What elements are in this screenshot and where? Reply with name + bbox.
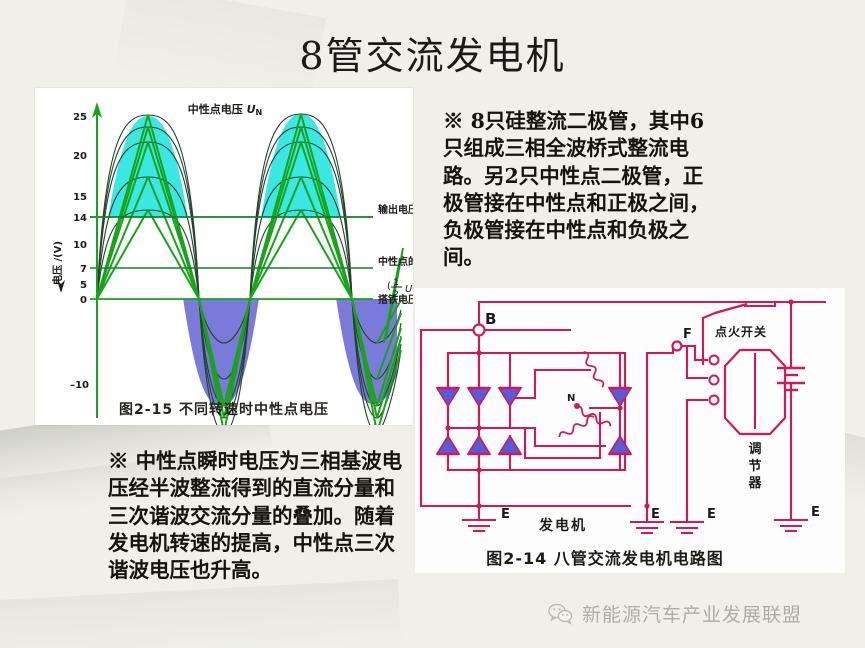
annotation-ground-voltage: 搭铁电压 [378,293,413,306]
svg-text:20: 20 [73,151,87,162]
note-rectifier-diodes: ※ 8只硅整流二极管，其中6只组成三相全波桥式整流电路。另2只中性点二极管，正极… [443,108,720,272]
circuit-diagram-panel: B F N E E E E 发电机 调 节 器 点火开关 图2-14 八管交流发… [415,288,845,573]
circuit-label-regulator-line2: 节 [748,458,761,474]
circuit-label-ground-2: E [651,507,660,522]
footer-watermark: 新能源汽车产业发展联盟 [548,600,802,627]
y-axis-label: 电压 /(V) [51,241,64,285]
svg-text:U: U [405,284,413,295]
circuit-label-regulator-line3: 器 [747,476,762,491]
circuit-label-terminal-b: B [485,310,496,328]
terminal-node-f [673,342,682,351]
svg-text:15: 15 [73,192,87,203]
svg-text:5: 5 [80,280,87,291]
circuit-caption: 图2-14 八管交流发电机电路图 [486,549,724,568]
annotation-output-voltage: 输出电压 UB [378,203,413,217]
slide-canvas: 8管交流发电机 中性点电压 UN [0,0,865,648]
circuit-label-terminal-n: N [567,393,575,404]
circuit-label-ground-3: E [707,507,716,522]
svg-text:10: 10 [73,240,87,251]
footer-watermark-text: 新能源汽车产业发展联盟 [582,600,802,627]
circuit-label-generator: 发电机 [538,517,587,534]
wechat-icon [548,603,574,625]
svg-text:0: 0 [80,295,87,306]
svg-text:14: 14 [73,213,87,224]
circuit-label-ground-4: E [811,505,820,520]
neutral-point-voltage-chart: 中性点电压 UN [35,88,413,425]
svg-text:–10: –10 [70,380,89,391]
note-neutral-point-voltage: ※ 中性点瞬时电压为三相基波电压经半波整流得到的直流分量和三次谐波交流分量的叠加… [108,448,408,584]
svg-text:7: 7 [80,264,87,275]
eight-diode-alternator-circuit: B F N E E E E 发电机 调 节 器 点火开关 图2-14 八管交流发… [415,288,845,573]
circuit-label-terminal-f: F [683,327,692,342]
circuit-label-ignition-switch: 点火开关 [715,324,767,339]
svg-text:25: 25 [73,112,87,123]
terminal-node-b [474,325,485,336]
circuit-label-ground-1: E [501,507,510,522]
chart-panel: 中性点电压 UN [35,88,413,425]
chart-title: 中性点电压 UN [188,102,262,117]
svg-text:(: ( [387,281,391,292]
chart-caption: 图2-15 不同转速时中性点电压 [35,399,413,419]
regulator-terminals [710,356,719,405]
circuit-label-regulator-line1: 调 [748,442,761,457]
background-texture-band [0,579,402,648]
annotation-neutral-average-voltage: 中性点的平均电压 [378,255,413,268]
slide-title: 8管交流发电机 [0,25,865,80]
